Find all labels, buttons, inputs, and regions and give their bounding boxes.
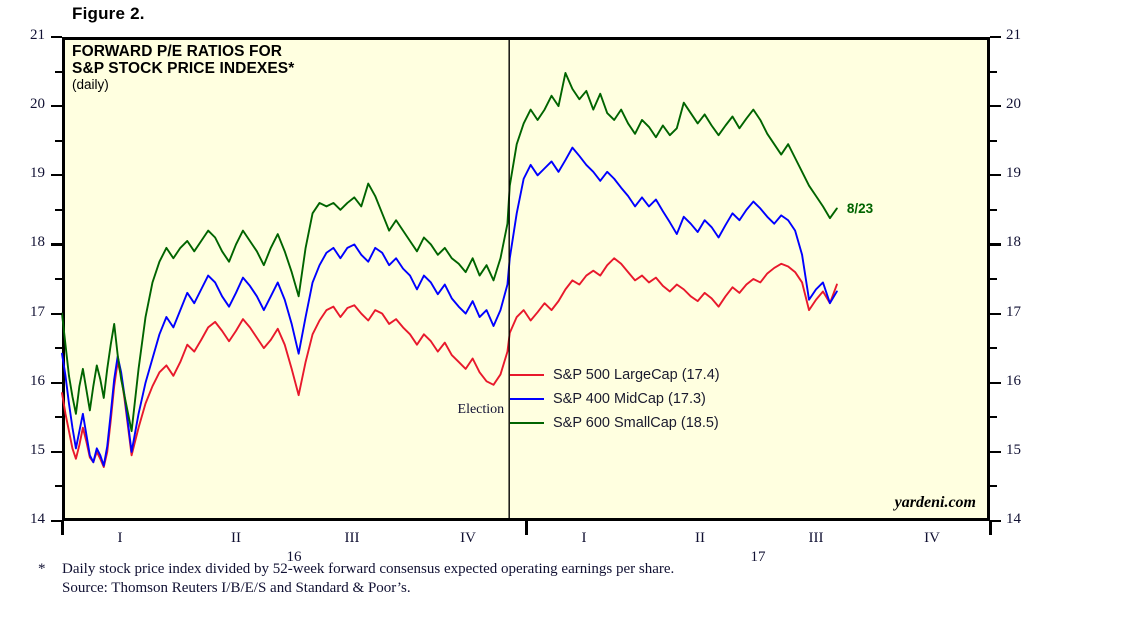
y-axis-label-left: 20	[19, 96, 45, 113]
x-tick-year	[989, 521, 992, 535]
y-tick-major-right	[990, 105, 1001, 107]
x-axis-year-label: 17	[728, 549, 788, 566]
y-tick-minor-right	[990, 71, 997, 73]
footnote: * Daily stock price index divided by 52-…	[38, 560, 674, 598]
y-axis-label-right: 20	[1006, 96, 1032, 113]
legend-swatch-icon	[510, 422, 544, 424]
y-tick-major-left	[51, 313, 62, 315]
y-tick-major-left	[51, 451, 62, 453]
y-tick-minor-right	[990, 347, 997, 349]
y-tick-major-right	[990, 313, 1001, 315]
y-tick-minor-left	[55, 416, 62, 418]
chart-title: FORWARD P/E RATIOS FOR S&P STOCK PRICE I…	[72, 43, 294, 93]
x-tick-year	[61, 521, 64, 535]
y-axis-label-right: 21	[1006, 27, 1032, 44]
election-annotation-label: Election	[449, 402, 504, 418]
y-tick-minor-right	[990, 416, 997, 418]
y-tick-minor-left	[55, 71, 62, 73]
y-tick-major-left	[51, 36, 62, 38]
y-tick-major-left	[51, 105, 62, 107]
x-axis-quarter-label: IV	[438, 530, 498, 547]
figure-label: Figure 2.	[72, 4, 145, 24]
y-axis-label-left: 19	[19, 165, 45, 182]
footnote-line2: Source: Thomson Reuters I/B/E/S and Stan…	[62, 579, 674, 598]
y-axis-label-right: 17	[1006, 304, 1032, 321]
y-axis-label-left: 18	[19, 234, 45, 251]
series-line-3	[62, 73, 837, 431]
y-tick-minor-right	[990, 278, 997, 280]
x-axis-quarter-label: III	[786, 530, 846, 547]
y-tick-minor-left	[55, 278, 62, 280]
x-axis-quarter-label: IV	[902, 530, 962, 547]
y-tick-minor-left	[55, 347, 62, 349]
y-tick-major-right	[990, 243, 1001, 245]
y-tick-major-right	[990, 174, 1001, 176]
chart-plot-area: FORWARD P/E RATIOS FOR S&P STOCK PRICE I…	[62, 37, 990, 521]
chart-title-line3: (daily)	[72, 77, 294, 93]
y-tick-major-left	[51, 243, 62, 245]
y-tick-major-left	[51, 174, 62, 176]
legend-item-3: S&P 600 SmallCap (18.5)	[510, 411, 720, 435]
footnote-marker: *	[38, 560, 46, 579]
y-axis-label-left: 21	[19, 27, 45, 44]
chart-title-line1: FORWARD P/E RATIOS FOR	[72, 43, 294, 60]
y-axis-label-right: 16	[1006, 373, 1032, 390]
y-tick-minor-right	[990, 485, 997, 487]
y-axis-label-right: 14	[1006, 511, 1032, 528]
y-axis-label-left: 17	[19, 304, 45, 321]
y-axis-label-left: 15	[19, 442, 45, 459]
chart-title-line2: S&P STOCK PRICE INDEXES*	[72, 60, 294, 77]
y-tick-minor-right	[990, 209, 997, 211]
y-axis-label-right: 18	[1006, 234, 1032, 251]
y-axis-label-right: 15	[1006, 442, 1032, 459]
x-axis-quarter-label: II	[670, 530, 730, 547]
legend-label: S&P 500 LargeCap (17.4)	[553, 367, 720, 383]
y-tick-minor-left	[55, 485, 62, 487]
footnote-line1: Daily stock price index divided by 52-we…	[62, 560, 674, 579]
legend-label: S&P 600 SmallCap (18.5)	[553, 415, 719, 431]
y-axis-label-left: 16	[19, 373, 45, 390]
legend-swatch-icon	[510, 398, 544, 400]
y-tick-major-right	[990, 520, 1001, 522]
y-tick-major-right	[990, 382, 1001, 384]
chart-legend: S&P 500 LargeCap (17.4)S&P 400 MidCap (1…	[510, 363, 720, 435]
x-axis-quarter-label: II	[206, 530, 266, 547]
y-axis-label-right: 19	[1006, 165, 1032, 182]
legend-item-2: S&P 400 MidCap (17.3)	[510, 387, 720, 411]
y-tick-major-left	[51, 382, 62, 384]
y-tick-major-right	[990, 36, 1001, 38]
y-tick-minor-left	[55, 140, 62, 142]
legend-swatch-icon	[510, 374, 544, 376]
y-tick-minor-right	[990, 140, 997, 142]
x-axis-quarter-label: I	[90, 530, 150, 547]
x-axis-quarter-label: I	[554, 530, 614, 547]
yardeni-watermark: yardeni.com	[895, 494, 976, 512]
x-axis-year-label: 16	[264, 549, 324, 566]
y-tick-minor-left	[55, 209, 62, 211]
series-line-1	[62, 258, 837, 467]
chart-series-svg	[62, 37, 990, 521]
series-end-label: 8/23	[847, 201, 873, 216]
y-axis-label-left: 14	[19, 511, 45, 528]
x-axis-quarter-label: III	[322, 530, 382, 547]
legend-item-1: S&P 500 LargeCap (17.4)	[510, 363, 720, 387]
x-tick-year	[525, 521, 528, 535]
legend-label: S&P 400 MidCap (17.3)	[553, 391, 706, 407]
y-tick-major-right	[990, 451, 1001, 453]
